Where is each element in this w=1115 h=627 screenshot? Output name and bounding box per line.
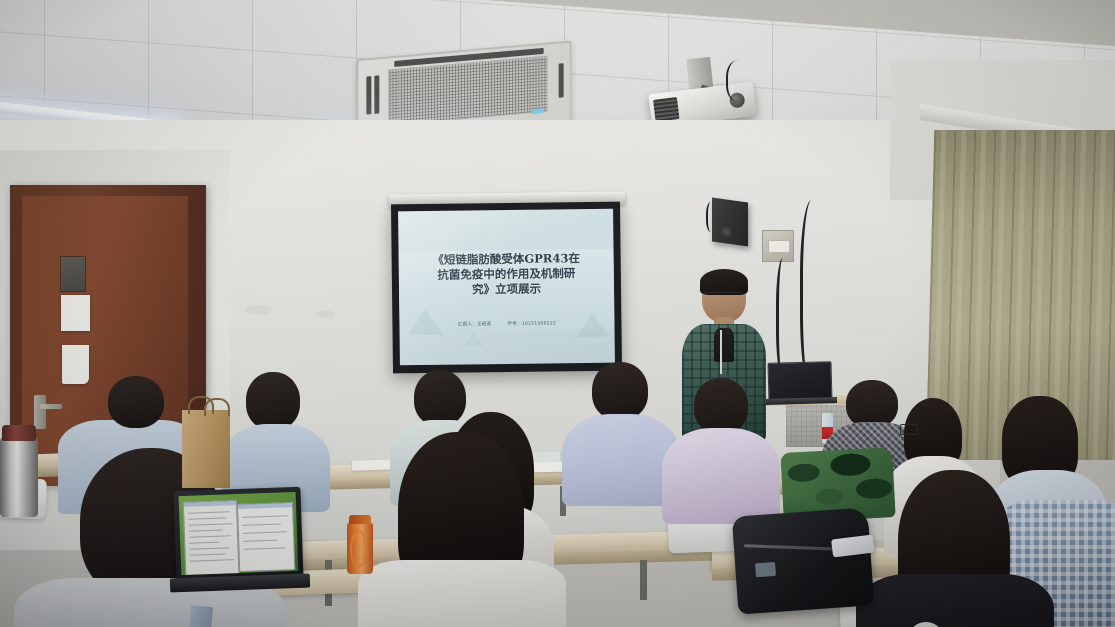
doc-line <box>190 553 226 555</box>
door-notice-upper <box>61 295 90 331</box>
ac-indicator <box>532 108 544 114</box>
projector-vent <box>653 97 680 122</box>
slide-student-id-label: 学号：10151900222 <box>507 320 556 327</box>
orange-water-bottle[interactable] <box>347 522 373 574</box>
doc-line <box>189 523 233 526</box>
doc-line <box>189 535 231 537</box>
thermos-cap <box>2 425 36 441</box>
speaker-cone <box>720 225 732 239</box>
slide-title-line-3: 究》立项展示 <box>416 280 597 297</box>
paper-bag-handle-right <box>204 398 230 416</box>
slide-title-line-1: 《短链脂肪酸受体GPR43在 <box>416 250 597 267</box>
screen-surface: 《短链脂肪酸受体GPR43在 抗菌免疫中的作用及机制研 究》立项展示 汇报人：王… <box>398 209 615 366</box>
desk-frame-row-3b <box>640 560 647 600</box>
wall-smudge-1 <box>245 305 271 315</box>
door-handle-plate[interactable] <box>34 395 46 429</box>
black-backpack[interactable] <box>732 507 875 614</box>
wall-outlet[interactable] <box>762 230 794 262</box>
bottle-strap <box>350 530 367 568</box>
doc-line <box>188 511 230 513</box>
head <box>246 372 300 430</box>
doc-line <box>242 515 288 518</box>
doc-line <box>243 531 287 534</box>
wall-cable-1 <box>776 258 793 378</box>
wall-smudge-2 <box>315 310 335 318</box>
doc-line <box>244 547 286 549</box>
paper-shopping-bag[interactable] <box>182 410 230 488</box>
presenter-undershirt <box>714 328 734 362</box>
head <box>592 362 648 420</box>
head <box>694 378 748 434</box>
laptop-window-left <box>183 500 240 575</box>
wall-cable-3 <box>706 202 718 232</box>
foreground-laptop-screen <box>179 492 299 575</box>
backpack-tag <box>755 562 776 577</box>
doc-line <box>243 524 281 526</box>
ac-vent-left <box>366 76 371 115</box>
window-titlebar <box>184 501 236 507</box>
presenter-glasses <box>704 292 742 301</box>
ac-grille <box>388 56 547 126</box>
body <box>856 574 1054 627</box>
presenter-lanyard <box>720 330 722 374</box>
doc-line <box>189 547 229 549</box>
projector-cable <box>726 60 756 102</box>
head <box>846 380 898 428</box>
projection-screen: 《短链脂肪酸受体GPR43在 抗菌免疫中的作用及机制研 究》立项展示 汇报人：王… <box>391 202 622 374</box>
slide-presenter-label: 汇报人：王昭吾 <box>458 321 492 327</box>
door-handle[interactable] <box>40 404 62 409</box>
slide-title-line-2: 抗菌免疫中的作用及机制研 <box>416 265 597 282</box>
head <box>108 376 164 428</box>
laptop-window-right <box>237 502 295 572</box>
body <box>662 428 780 524</box>
head <box>414 370 466 426</box>
doc-line <box>188 517 226 519</box>
body <box>358 560 566 627</box>
ac-vent-right <box>559 63 564 98</box>
doc-line <box>190 559 234 562</box>
thermos-flask[interactable] <box>0 437 38 517</box>
door-window <box>60 256 86 292</box>
glasses <box>900 424 918 435</box>
foreground-laptop[interactable] <box>173 487 303 582</box>
door-notice-lower <box>62 345 89 384</box>
slide-title: 《短链脂肪酸受体GPR43在 抗菌免疫中的作用及机制研 究》立项展示 <box>416 250 597 297</box>
slide-decor-mid <box>464 331 484 346</box>
window-titlebar <box>238 503 292 509</box>
classroom-photo: 《短链脂肪酸受体GPR43在 抗菌免疫中的作用及机制研 究》立项展示 汇报人：王… <box>0 0 1115 627</box>
doc-line <box>189 530 223 532</box>
bottle-cap <box>349 515 371 524</box>
ac-vent-left2 <box>374 75 379 114</box>
outlet-face <box>768 240 790 253</box>
doc-line <box>243 540 277 542</box>
doc-line <box>189 542 219 544</box>
